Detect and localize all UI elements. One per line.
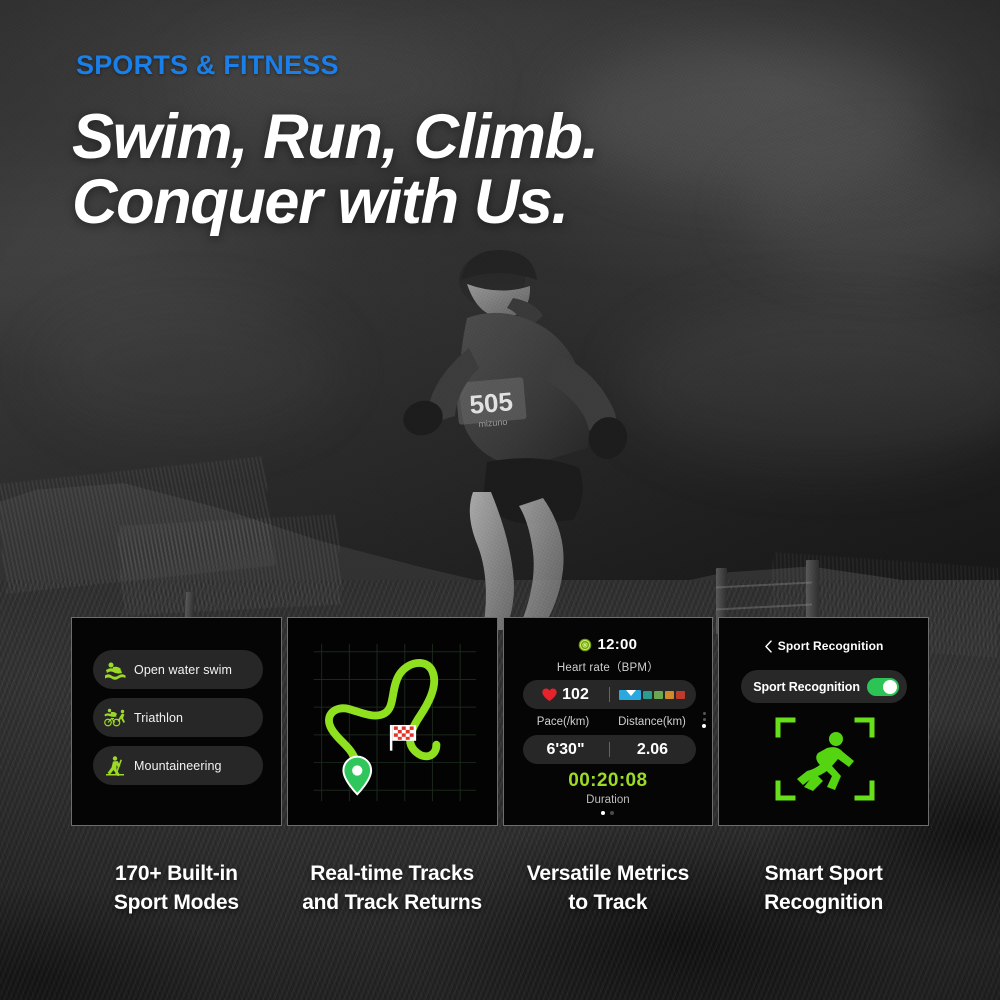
triathlon-icon — [104, 707, 127, 728]
hr-zone-2 — [643, 691, 652, 699]
sport-mode-label: Mountaineering — [134, 759, 222, 773]
scroll-indicator[interactable] — [702, 712, 706, 728]
caption-sport-recognition: Smart Sport Recognition — [718, 860, 929, 918]
caption-line-2: Sport Modes — [114, 891, 239, 914]
hr-zone-4 — [665, 691, 674, 699]
sport-recognition-header[interactable]: Sport Recognition — [719, 639, 928, 653]
eyebrow-label: SPORTS & FITNESS — [76, 50, 339, 81]
scroll-dot — [703, 712, 706, 715]
sport-mode-item-triathlon[interactable]: Triathlon — [93, 698, 263, 737]
feature-card-row: Open water swim — [71, 617, 929, 826]
page-dot-active — [601, 811, 605, 815]
marketing-banner: 505 mizuno SPORTS & FITNESS Swim, Run, C… — [0, 0, 1000, 1000]
sport-recognition-toggle-row[interactable]: Sport Recognition — [741, 670, 907, 703]
page-dot — [610, 811, 614, 815]
distance-caption: Distance(km) — [608, 716, 697, 728]
card-sport-recognition[interactable]: Sport Recognition Sport Recognition — [718, 617, 929, 826]
page-indicator[interactable] — [504, 811, 713, 815]
gps-satellite-icon — [578, 638, 592, 652]
heart-icon — [542, 688, 557, 702]
distance-value: 2.06 — [610, 741, 696, 759]
open-water-swim-icon — [104, 659, 127, 680]
duration-value: 00:20:08 — [504, 770, 713, 792]
headline-line-1: Swim, Run, Climb. — [72, 105, 852, 170]
card-realtime-track[interactable] — [287, 617, 498, 826]
pace-value: 6'30" — [523, 741, 609, 759]
sport-mode-label: Triathlon — [134, 711, 183, 725]
sport-recognition-title: Sport Recognition — [778, 639, 884, 653]
chevron-left-icon[interactable] — [764, 640, 773, 653]
hr-zone-5 — [676, 691, 685, 699]
card-versatile-metrics[interactable]: 12:00 Heart rate（BPM） 102 — [503, 617, 714, 826]
scroll-dot — [703, 718, 706, 721]
sport-recognition-toggle-label: Sport Recognition — [753, 680, 860, 694]
sport-mode-list: Open water swim — [93, 650, 263, 785]
caption-line-2: to Track — [568, 891, 647, 914]
caption-line-2: and Track Returns — [302, 891, 482, 914]
mountaineering-icon — [104, 755, 127, 776]
caption-line-1: Real-time Tracks — [310, 862, 474, 885]
headline-line-2: Conquer with Us. — [72, 170, 852, 235]
heart-rate-zone-bar — [610, 690, 696, 700]
gps-track-map[interactable] — [288, 618, 497, 825]
toggle-knob — [883, 680, 897, 694]
sport-mode-item-mountaineering[interactable]: Mountaineering — [93, 746, 263, 785]
watch-time: 12:00 — [597, 636, 637, 653]
scroll-dot-active — [702, 724, 706, 728]
heart-rate-row[interactable]: 102 — [523, 680, 696, 709]
page-title: Swim, Run, Climb. Conquer with Us. — [72, 105, 852, 235]
heart-rate-caption: Heart rate（BPM） — [504, 659, 713, 675]
hr-zone-3 — [654, 691, 663, 699]
card-sport-modes[interactable]: Open water swim — [71, 617, 282, 826]
pace-distance-captions: Pace(/km) Distance(km) — [519, 716, 697, 728]
watch-status-row: 12:00 — [504, 636, 713, 653]
sport-mode-label: Open water swim — [134, 663, 232, 677]
caption-row: 170+ Built-in Sport Modes Real-time Trac… — [71, 860, 929, 918]
caption-line-1: 170+ Built-in — [115, 862, 238, 885]
hr-zone-marker-icon — [626, 690, 636, 696]
duration-caption: Duration — [504, 794, 713, 806]
heart-rate-value-group: 102 — [523, 686, 609, 704]
sport-recognition-toggle[interactable] — [867, 678, 899, 696]
heart-rate-value: 102 — [562, 686, 589, 704]
running-person-in-frame-icon — [775, 717, 875, 801]
caption-line-1: Versatile Metrics — [527, 862, 689, 885]
sport-mode-item-open-water-swim[interactable]: Open water swim — [93, 650, 263, 689]
caption-versatile-metrics: Versatile Metrics to Track — [503, 860, 714, 918]
caption-line-1: Smart Sport — [765, 862, 883, 885]
caption-line-2: Recognition — [764, 891, 883, 914]
pace-caption: Pace(/km) — [519, 716, 608, 728]
caption-realtime-track: Real-time Tracks and Track Returns — [287, 860, 498, 918]
pace-distance-row[interactable]: 6'30" 2.06 — [523, 735, 696, 764]
caption-sport-modes: 170+ Built-in Sport Modes — [71, 860, 282, 918]
